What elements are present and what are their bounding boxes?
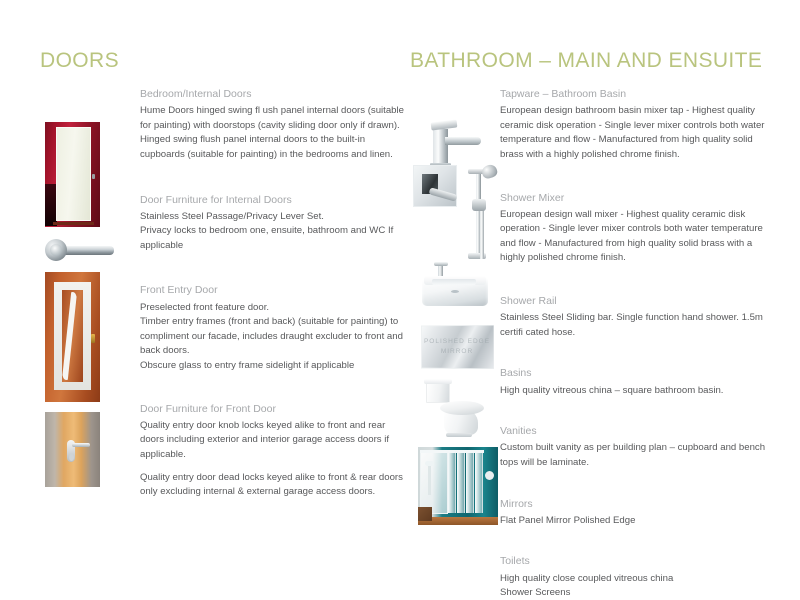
entry-paragraph: High quality close coupled vitreous chin… bbox=[500, 572, 770, 587]
entry-paragraph: Quality entry door dead locks keyed alik… bbox=[140, 471, 410, 500]
entry-paragraph: Custom built vanity as per building plan… bbox=[500, 441, 770, 470]
entry-vanities: Vanities Custom built vanity as per buil… bbox=[410, 424, 770, 470]
hand-shower-head bbox=[480, 163, 498, 180]
entry-title: Front Entry Door bbox=[140, 283, 410, 298]
entry-title: Toilets bbox=[500, 554, 770, 569]
entry-title: Mirrors bbox=[500, 497, 770, 512]
column-doors: DOORS bbox=[40, 50, 410, 514]
entry-shower-rail: Shower Rail Stainless Steel Sliding bar.… bbox=[410, 294, 770, 340]
entry-mirrors: Mirrors Flat Panel Mirror Polished Edge bbox=[410, 497, 770, 529]
brochure-page: DOORS bbox=[0, 0, 800, 600]
towel-ring bbox=[485, 471, 494, 480]
entry-title: Door Furniture for Front Door bbox=[140, 402, 410, 417]
doors-entry-list: Bedroom/Internal Doors Hume Doors hinged… bbox=[40, 87, 410, 500]
entry-paragraph: Quality entry door knob locks keyed alik… bbox=[140, 419, 410, 463]
entry-title: Bedroom/Internal Doors bbox=[140, 87, 410, 102]
toilet-seat bbox=[440, 401, 484, 415]
entry-body: Flat Panel Mirror Polished Edge bbox=[500, 514, 770, 529]
entry-bedroom-internal-doors: Bedroom/Internal Doors Hume Doors hinged… bbox=[40, 87, 410, 163]
basin-waste bbox=[451, 290, 459, 293]
entry-front-entry-door: Front Entry Door Preselected front featu… bbox=[40, 283, 410, 373]
entry-paragraph: Shower Screens bbox=[500, 586, 770, 600]
column-bathroom: BATHROOM – MAIN AND ENSUITE bbox=[410, 50, 770, 600]
entry-paragraph: Hume Doors hinged swing fl ush panel int… bbox=[140, 104, 410, 133]
entry-body: Hume Doors hinged swing fl ush panel int… bbox=[140, 104, 410, 162]
entry-title: Door Furniture for Internal Doors bbox=[140, 193, 410, 208]
entry-paragraph: European design bathroom basin mixer tap… bbox=[500, 104, 770, 162]
entry-door-furniture-internal: Door Furniture for Internal Doors Stainl… bbox=[40, 193, 410, 254]
entry-paragraph: Stainless Steel Sliding bar. Single func… bbox=[500, 311, 770, 340]
entry-body: High quality close coupled vitreous chin… bbox=[500, 572, 770, 600]
entry-basins: Basins High quality vitreous china – squ… bbox=[410, 366, 770, 398]
entry-paragraph: Preselected front feature door. bbox=[140, 301, 410, 316]
entry-body: European design wall mixer - Highest qua… bbox=[500, 208, 770, 266]
entry-body: High quality vitreous china – square bat… bbox=[500, 384, 770, 399]
entry-title: Vanities bbox=[500, 424, 770, 439]
entry-body: Stainless Steel Passage/Privacy Lever Se… bbox=[140, 210, 410, 254]
basin-rim bbox=[432, 279, 476, 285]
entry-tapware-bathroom-basin: Tapware – Bathroom Basin European design… bbox=[410, 87, 770, 163]
entry-title: Shower Mixer bbox=[500, 191, 770, 206]
entry-body: Stainless Steel Sliding bar. Single func… bbox=[500, 311, 770, 340]
entry-paragraph: Obscure glass to entry frame sidelight i… bbox=[140, 359, 410, 374]
entry-paragraph: European design wall mixer - Highest qua… bbox=[500, 208, 770, 266]
entry-paragraph: Timber entry frames (front and back) (su… bbox=[140, 315, 410, 359]
entry-paragraph: Hinged swing flush panel internal doors … bbox=[140, 133, 410, 162]
entry-paragraph: High quality vitreous china – square bat… bbox=[500, 384, 770, 399]
entry-shower-mixer: Shower Mixer European design wall mixer … bbox=[410, 191, 770, 267]
entry-paragraph: Privacy locks to bedroom one, ensuite, b… bbox=[140, 224, 410, 253]
entry-title: Shower Rail bbox=[500, 294, 770, 309]
entry-paragraph: Flat Panel Mirror Polished Edge bbox=[500, 514, 770, 529]
entry-title: Tapware – Bathroom Basin bbox=[500, 87, 770, 102]
entry-body: Custom built vanity as per building plan… bbox=[500, 441, 770, 470]
entry-paragraph: Stainless Steel Passage/Privacy Lever Se… bbox=[140, 210, 410, 225]
entry-title: Basins bbox=[500, 366, 770, 381]
entry-door-furniture-front: Door Furniture for Front Door Quality en… bbox=[40, 402, 410, 500]
section-heading-doors: DOORS bbox=[40, 50, 410, 71]
entry-body: Quality entry door knob locks keyed alik… bbox=[140, 419, 410, 500]
bathroom-entry-list: POLISHED EDGE MIRROR bbox=[410, 87, 770, 600]
entry-toilets: Toilets High quality close coupled vitre… bbox=[410, 554, 770, 600]
entry-body: Preselected front feature door. Timber e… bbox=[140, 301, 410, 374]
section-heading-bathroom: BATHROOM – MAIN AND ENSUITE bbox=[410, 50, 770, 71]
entry-body: European design bathroom basin mixer tap… bbox=[500, 104, 770, 162]
door-knob bbox=[92, 174, 95, 179]
